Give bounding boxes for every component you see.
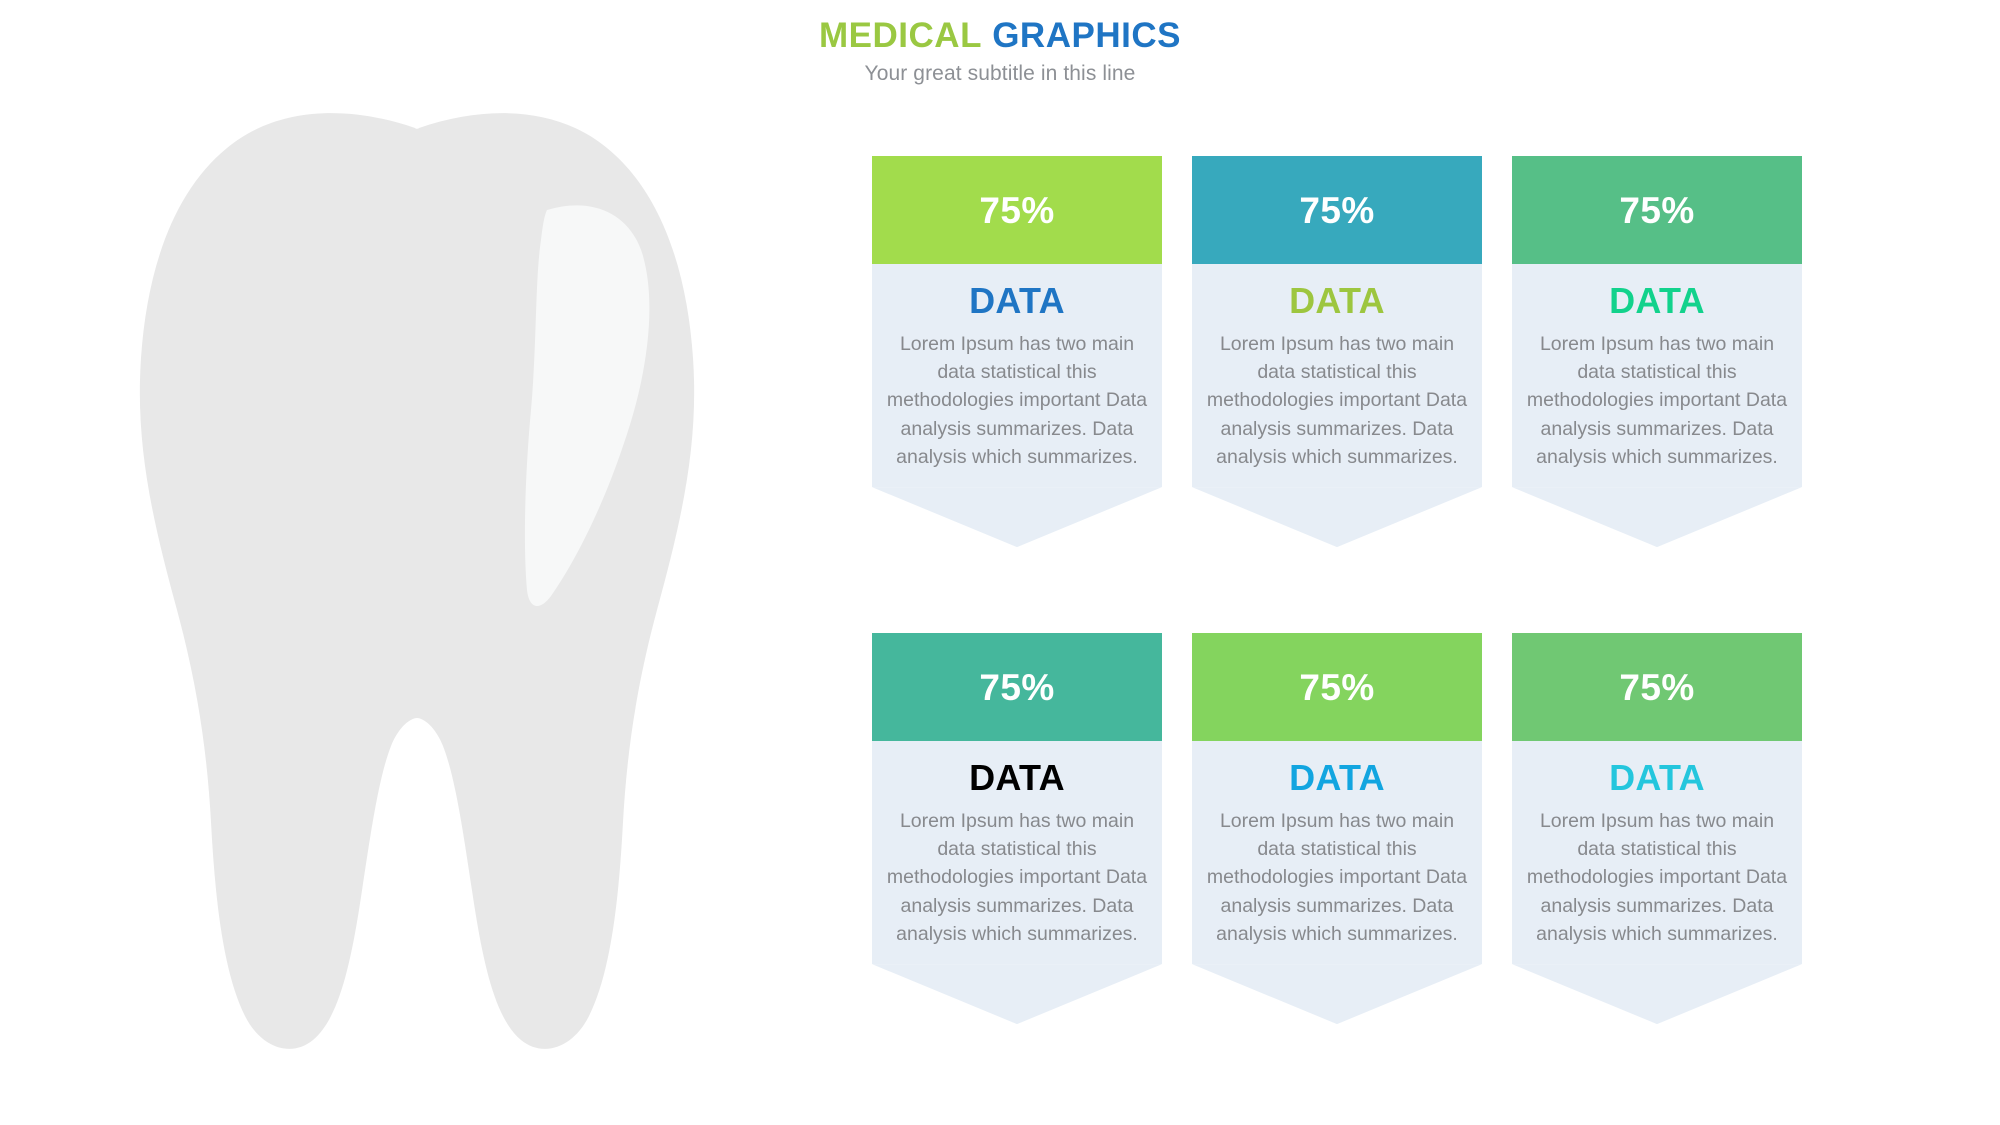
page-title-word-medical: MEDICAL (819, 16, 982, 55)
card-text-2: Lorem Ipsum has two main data statistica… (1206, 330, 1468, 471)
card-header-1: 75% (872, 156, 1162, 264)
data-card-2[interactable]: 75% DATA Lorem Ipsum has two main data s… (1192, 156, 1482, 547)
card-title-6: DATA (1526, 759, 1788, 797)
card-body-6: DATA Lorem Ipsum has two main data stati… (1512, 741, 1802, 964)
cards-grid: 75% DATA Lorem Ipsum has two main data s… (872, 156, 1838, 1086)
card-point-1 (872, 487, 1162, 547)
card-percent-5: 75% (1299, 669, 1374, 706)
slide-canvas: MEDICAL GRAPHICS Your great subtitle in … (0, 0, 2000, 1125)
card-point-5 (1192, 964, 1482, 1024)
card-body-2: DATA Lorem Ipsum has two main data stati… (1192, 264, 1482, 487)
page-subtitle: Your great subtitle in this line (0, 62, 2000, 86)
page-title: MEDICAL GRAPHICS (0, 16, 2000, 56)
card-header-3: 75% (1512, 156, 1802, 264)
card-percent-3: 75% (1619, 192, 1694, 229)
card-percent-4: 75% (979, 669, 1054, 706)
card-body-3: DATA Lorem Ipsum has two main data stati… (1512, 264, 1802, 487)
card-title-5: DATA (1206, 759, 1468, 797)
card-header-5: 75% (1192, 633, 1482, 741)
header: MEDICAL GRAPHICS Your great subtitle in … (0, 16, 2000, 86)
card-percent-6: 75% (1619, 669, 1694, 706)
card-header-6: 75% (1512, 633, 1802, 741)
tooth-illustration (95, 110, 735, 1070)
page-title-word-graphics: GRAPHICS (992, 16, 1181, 55)
card-text-3: Lorem Ipsum has two main data statistica… (1526, 330, 1788, 471)
card-text-1: Lorem Ipsum has two main data statistica… (886, 330, 1148, 471)
card-text-4: Lorem Ipsum has two main data statistica… (886, 807, 1148, 948)
card-title-1: DATA (886, 282, 1148, 320)
card-title-2: DATA (1206, 282, 1468, 320)
card-point-6 (1512, 964, 1802, 1024)
card-point-3 (1512, 487, 1802, 547)
card-title-4: DATA (886, 759, 1148, 797)
card-title-3: DATA (1526, 282, 1788, 320)
card-body-4: DATA Lorem Ipsum has two main data stati… (872, 741, 1162, 964)
card-percent-1: 75% (979, 192, 1054, 229)
data-card-6[interactable]: 75% DATA Lorem Ipsum has two main data s… (1512, 633, 1802, 1024)
card-body-1: DATA Lorem Ipsum has two main data stati… (872, 264, 1162, 487)
data-card-1[interactable]: 75% DATA Lorem Ipsum has two main data s… (872, 156, 1162, 547)
card-point-2 (1192, 487, 1482, 547)
card-text-5: Lorem Ipsum has two main data statistica… (1206, 807, 1468, 948)
card-text-6: Lorem Ipsum has two main data statistica… (1526, 807, 1788, 948)
data-card-3[interactable]: 75% DATA Lorem Ipsum has two main data s… (1512, 156, 1802, 547)
card-percent-2: 75% (1299, 192, 1374, 229)
card-header-4: 75% (872, 633, 1162, 741)
data-card-4[interactable]: 75% DATA Lorem Ipsum has two main data s… (872, 633, 1162, 1024)
data-card-5[interactable]: 75% DATA Lorem Ipsum has two main data s… (1192, 633, 1482, 1024)
tooth-icon (95, 110, 735, 1070)
card-body-5: DATA Lorem Ipsum has two main data stati… (1192, 741, 1482, 964)
card-point-4 (872, 964, 1162, 1024)
card-header-2: 75% (1192, 156, 1482, 264)
